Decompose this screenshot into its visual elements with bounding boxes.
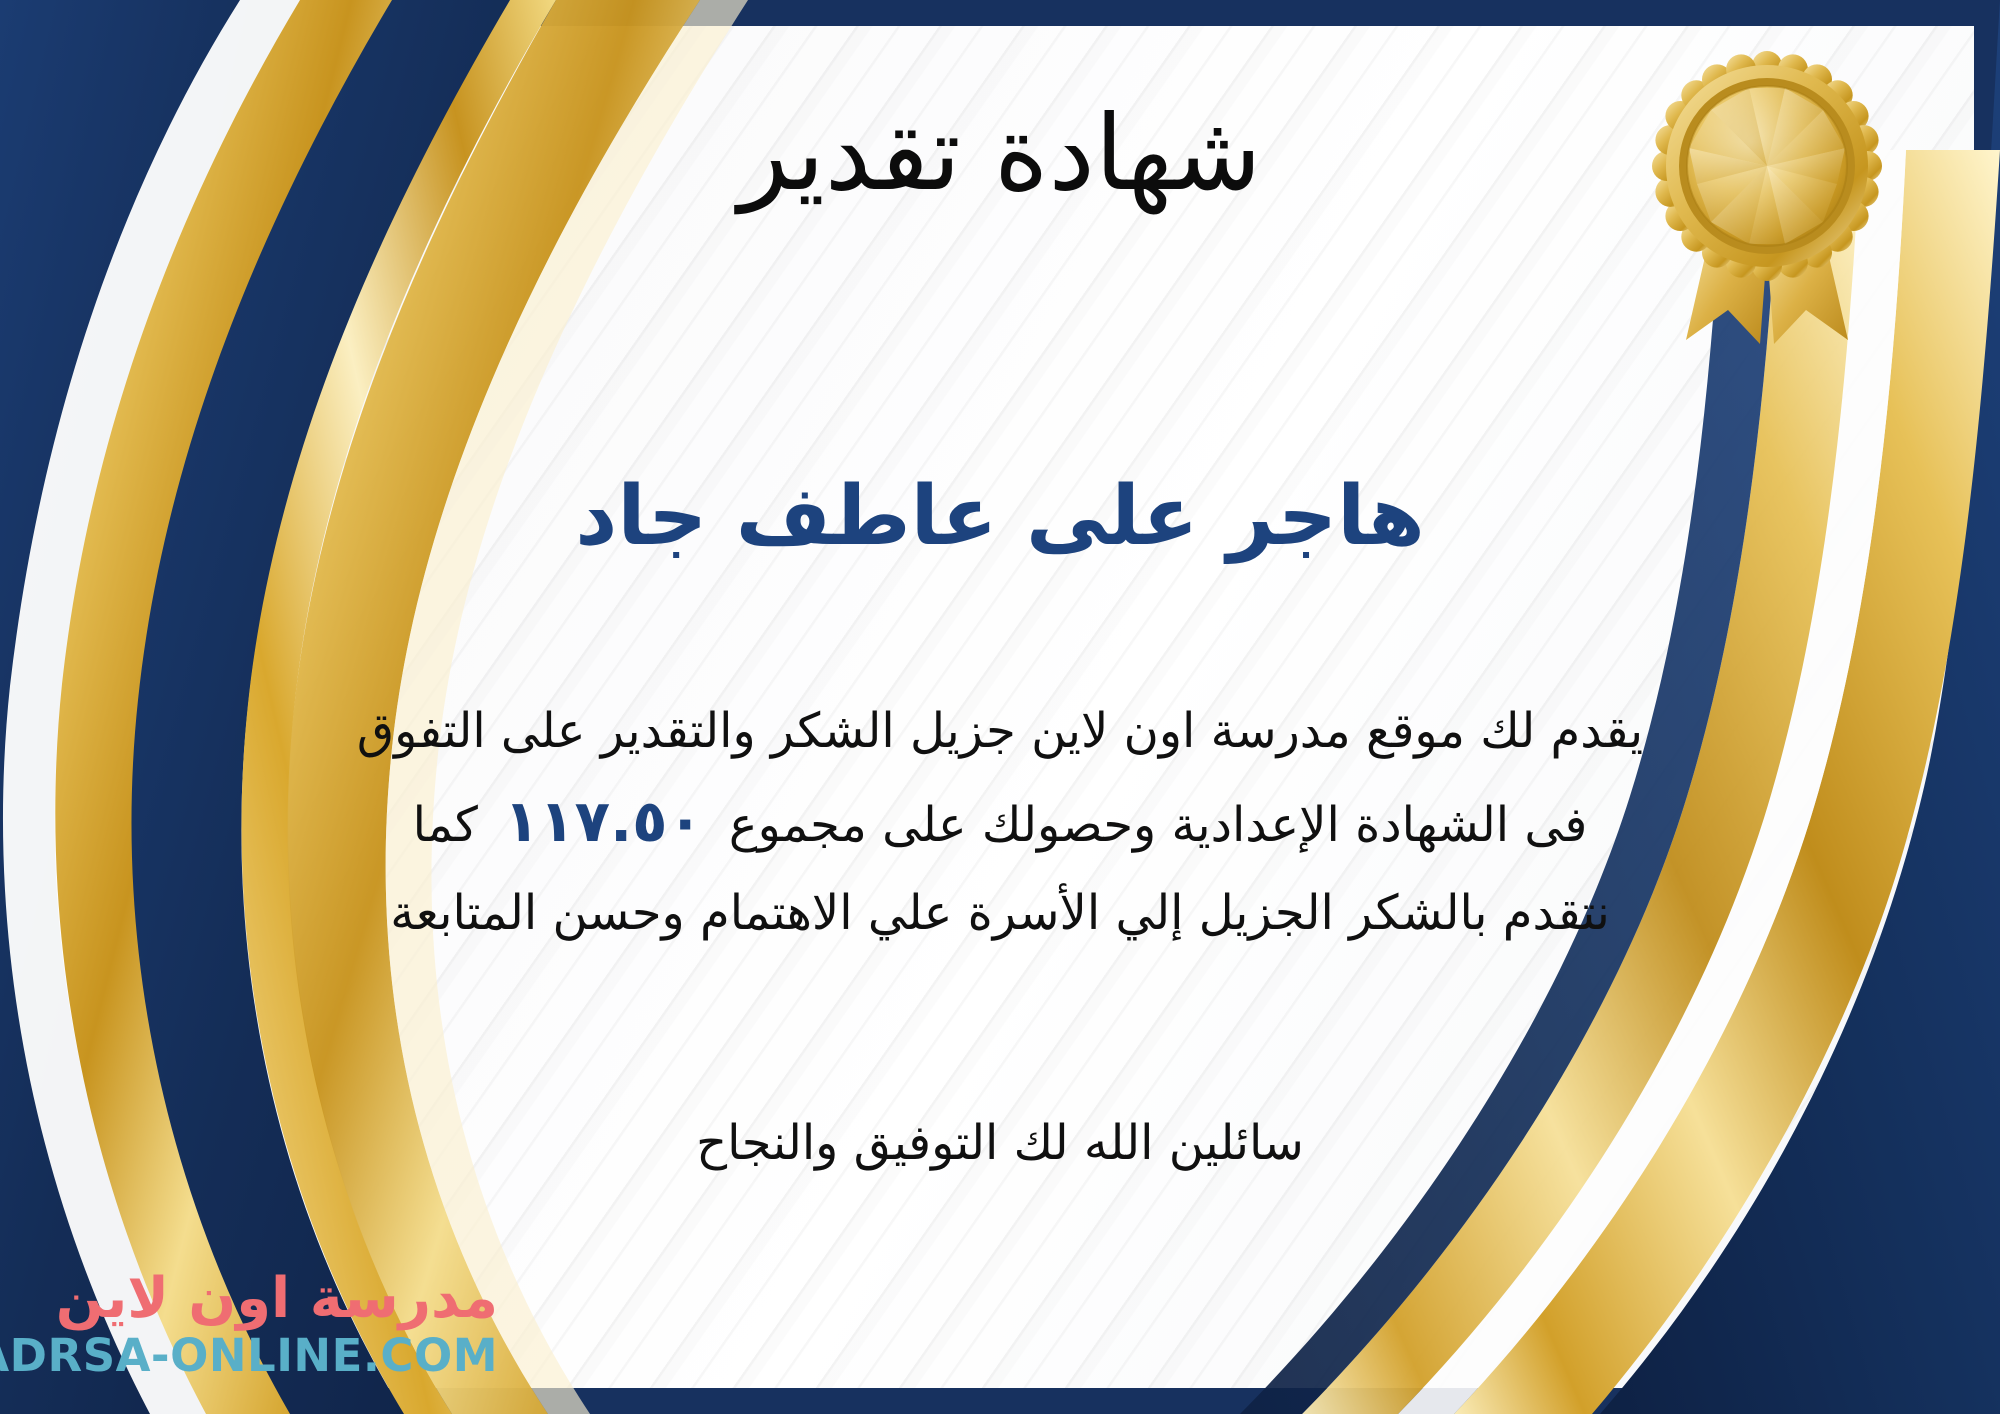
brand-logo-row: مدرسة اون لاين MADRSA-ONLINE.COM: [18, 1270, 498, 1380]
brand-text-block: مدرسة اون لاين MADRSA-ONLINE.COM: [0, 1270, 498, 1380]
closing-line: سائلين الله لك التوفيق والنجاح: [0, 1115, 2000, 1171]
brand-arabic-name: مدرسة اون لاين: [0, 1270, 498, 1329]
brand-website: MADRSA-ONLINE.COM: [0, 1331, 498, 1381]
body-line-2: فى الشهادة الإعدادية وحصولك على مجموع١١٧…: [60, 784, 1940, 859]
brand-logo[interactable]: مدرسة اون لاين MADRSA-ONLINE.COM: [18, 1270, 498, 1380]
body-paragraph: يقدم لك موقع مدرسة اون لاين جزيل الشكر و…: [60, 700, 1940, 966]
recipient-name: هاجر على عاطف جاد: [0, 470, 2000, 564]
body-line-1: يقدم لك موقع مدرسة اون لاين جزيل الشكر و…: [60, 700, 1940, 762]
body-line-2-left: كما: [413, 797, 478, 853]
score-value: ١١٧.٥٠: [478, 787, 729, 855]
certificate-page: شهادة تقدير هاجر على عاطف جاد يقدم لك مو…: [0, 0, 2000, 1414]
body-line-2-right: فى الشهادة الإعدادية وحصولك على مجموع: [729, 797, 1587, 853]
gold-medal-rosette-icon: [1642, 48, 1892, 348]
body-line-3: نتقدم بالشكر الجزيل إلي الأسرة علي الاهت…: [60, 882, 1940, 944]
